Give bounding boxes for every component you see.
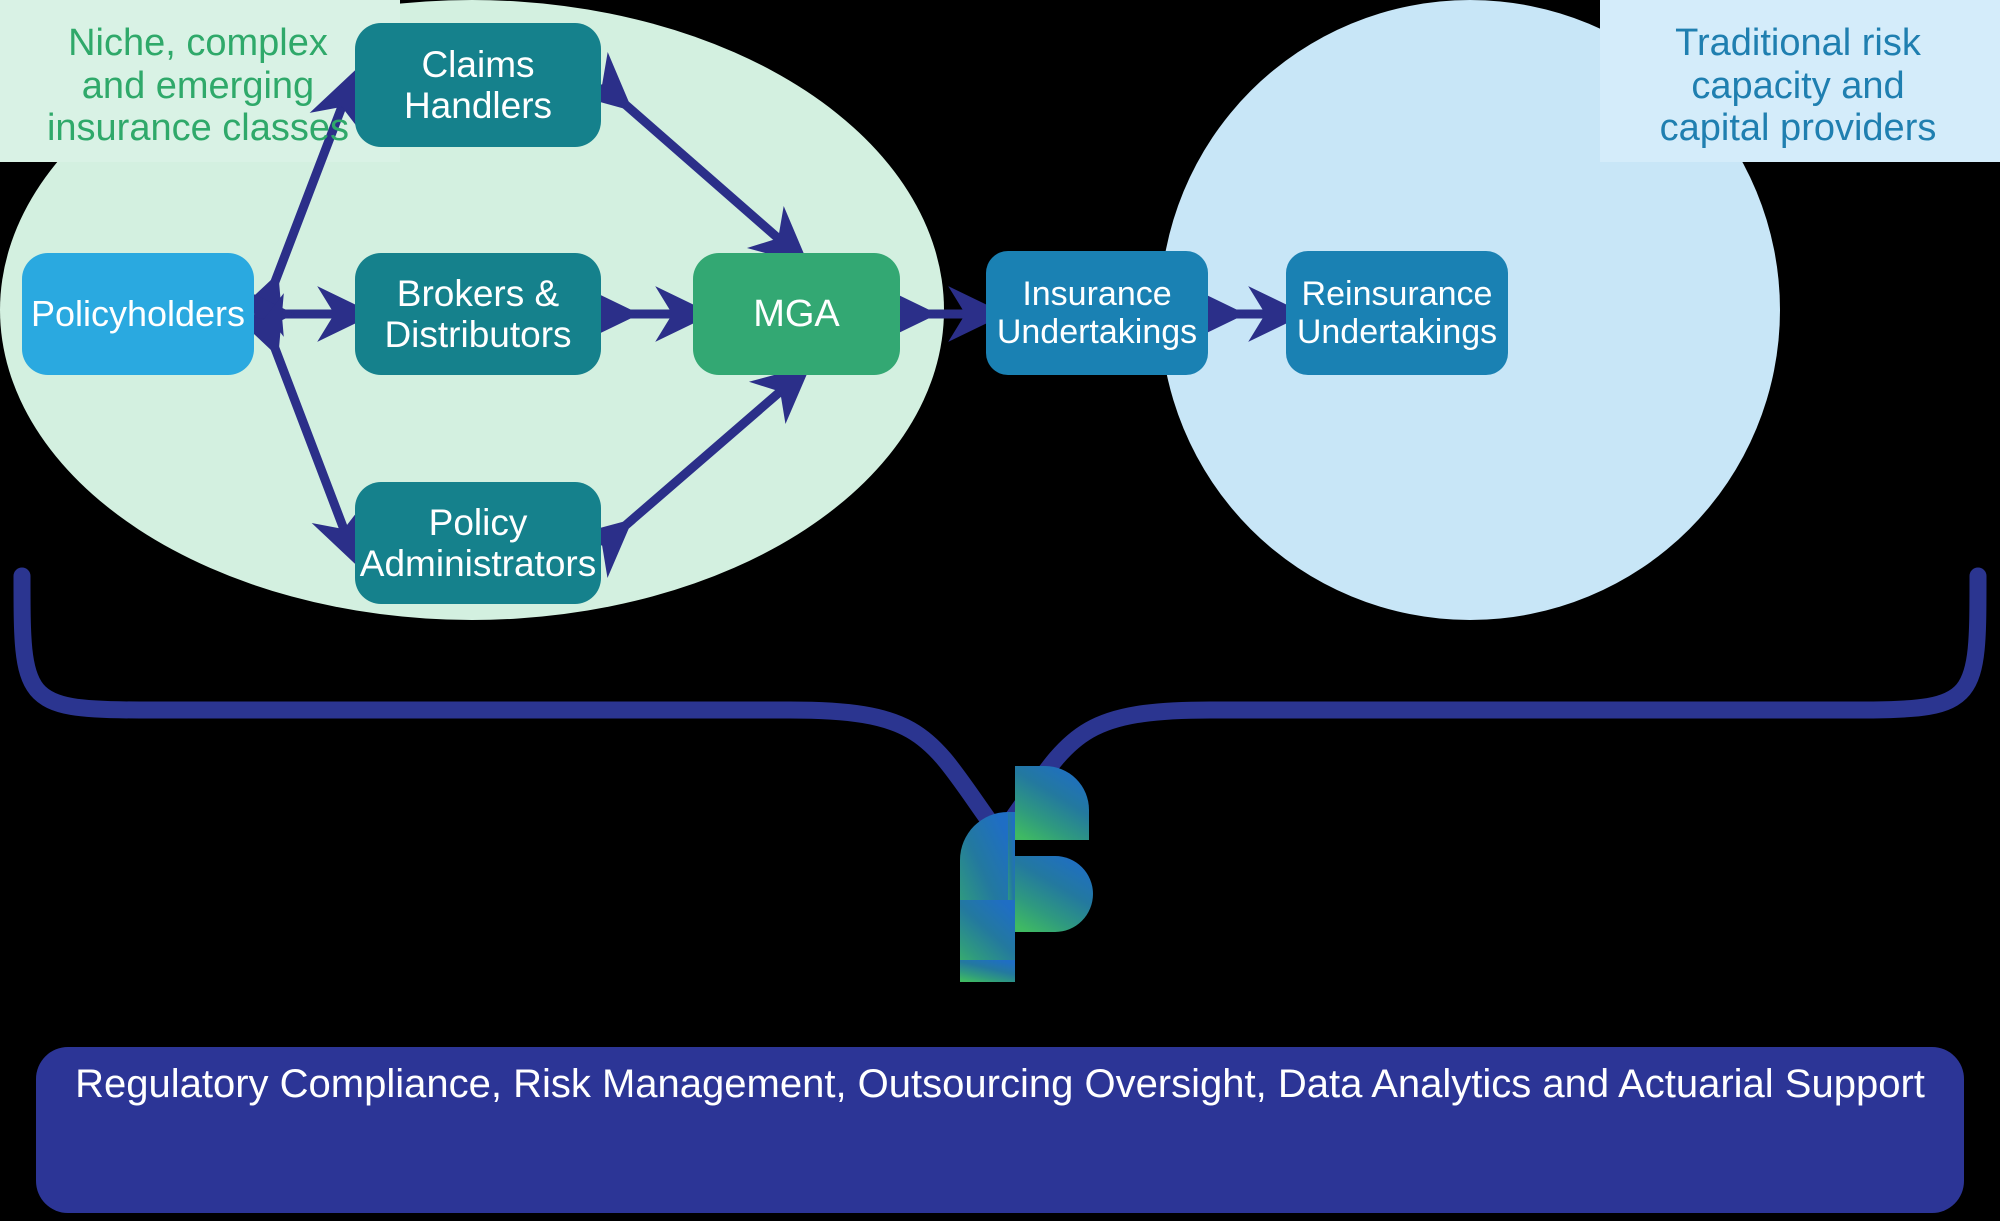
node-rect-claims-handlers[interactable] (355, 23, 601, 147)
diagram-canvas: Niche, complex and emerging insurance cl… (0, 0, 2000, 1221)
diagram-shapes-layer (0, 0, 2000, 1221)
bottom-brace (22, 576, 1978, 836)
left-group-caption: Niche, complex and emerging insurance cl… (8, 22, 388, 150)
node-rect-brokers-distributors[interactable] (355, 253, 601, 375)
services-banner-label: Regulatory Compliance, Risk Management, … (40, 1062, 1960, 1107)
right-group-caption: Traditional risk capacity and capital pr… (1608, 22, 1988, 150)
node-rect-policyholders[interactable] (22, 253, 254, 375)
node-rect-mga[interactable] (693, 253, 900, 375)
node-rect-insurance-undertakings[interactable] (986, 251, 1208, 375)
node-rect-policy-administrators[interactable] (355, 482, 601, 604)
node-rect-reinsurance-undertakings[interactable] (1286, 251, 1508, 375)
